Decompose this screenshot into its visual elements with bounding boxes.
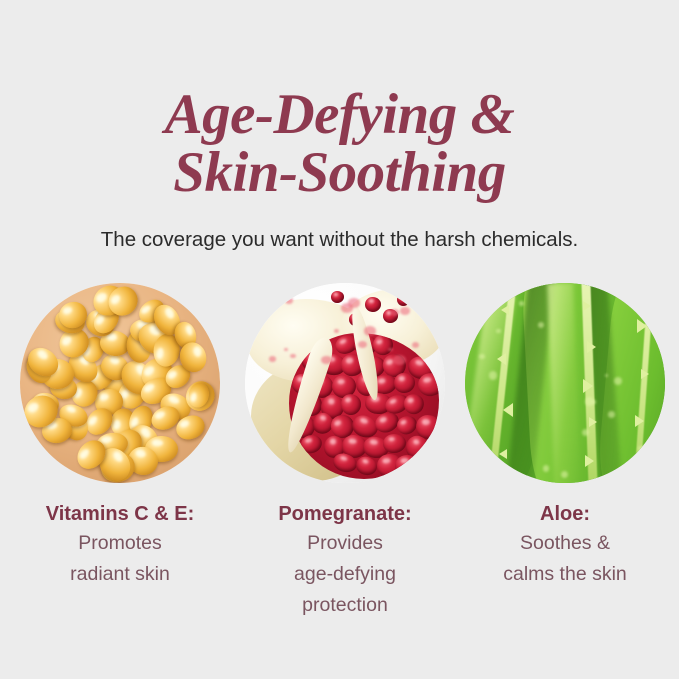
pomegranate-juice-speck bbox=[376, 336, 382, 341]
aloe-surface-dot bbox=[489, 371, 497, 379]
caption-title: Aloe: bbox=[451, 500, 679, 528]
aloe-thorns bbox=[465, 283, 665, 483]
pomegranate-juice-speck bbox=[412, 342, 420, 348]
aloe-surface-dot bbox=[496, 329, 501, 334]
caption-title: Pomegranate: bbox=[231, 500, 459, 528]
caption-body: Promotes radiant skin bbox=[6, 528, 234, 590]
aloe-surface-dot bbox=[638, 446, 643, 451]
aloe-thorn bbox=[503, 403, 513, 417]
aloe-thorn bbox=[587, 341, 596, 353]
caption-body-line: Soothes & bbox=[451, 528, 679, 559]
caption-body-line: calms the skin bbox=[451, 559, 679, 590]
pomegranate-juice-speck bbox=[334, 329, 339, 333]
caption-body-line: Promotes bbox=[6, 528, 234, 559]
pomegranate-juice-speck bbox=[400, 307, 410, 315]
aloe-thorn bbox=[635, 415, 644, 427]
aloe-thorn bbox=[585, 455, 594, 467]
aloe-surface-dot bbox=[519, 301, 523, 305]
caption-vitamins: Vitamins C & E: Promotes radiant skin bbox=[6, 500, 234, 590]
aloe-thorn bbox=[589, 417, 597, 427]
aloe-surface-dot bbox=[614, 377, 622, 385]
aloe-image bbox=[465, 283, 665, 483]
aloe-thorn bbox=[501, 305, 509, 315]
pomegranate-image bbox=[245, 283, 445, 483]
caption-body-line: Provides bbox=[231, 528, 459, 559]
capsules-cluster bbox=[20, 283, 220, 483]
pomegranate-juice-speck bbox=[364, 326, 376, 336]
caption-body: Soothes & calms the skin bbox=[451, 528, 679, 590]
aloe-surface-dot bbox=[582, 429, 589, 436]
pomegranate-juice-speck bbox=[348, 298, 360, 308]
vitamin-capsules-image bbox=[20, 283, 220, 483]
pomegranate-juice-speck bbox=[391, 309, 399, 316]
aloe-surface-dot bbox=[538, 322, 544, 328]
aloe-surface-dot bbox=[543, 465, 550, 472]
ingredient-captions-row: Vitamins C & E: Promotes radiant skin Po… bbox=[0, 500, 679, 670]
aloe-surface-dot bbox=[561, 471, 568, 478]
aloe-thorn bbox=[641, 369, 649, 379]
caption-title: Vitamins C & E: bbox=[6, 500, 234, 528]
headline-line-1: Age-Defying & bbox=[0, 86, 679, 144]
pomegranate-juice-speck bbox=[393, 355, 406, 365]
aloe-thorn bbox=[639, 461, 649, 475]
pomegranate-juice-speck bbox=[269, 356, 276, 361]
pomegranate-specks bbox=[245, 283, 445, 483]
caption-aloe: Aloe: Soothes & calms the skin bbox=[451, 500, 679, 590]
caption-body-line: radiant skin bbox=[6, 559, 234, 590]
aloe-thorn bbox=[499, 449, 507, 459]
headline-line-2: Skin-Soothing bbox=[0, 144, 679, 202]
ingredient-images-row bbox=[0, 283, 679, 483]
pomegranate-juice-speck bbox=[284, 348, 288, 351]
subtitle: The coverage you want without the harsh … bbox=[0, 227, 679, 253]
page-title: Age-Defying & Skin-Soothing bbox=[0, 86, 679, 202]
product-benefits-poster: Age-Defying & Skin-Soothing The coverage… bbox=[0, 0, 679, 679]
caption-pomegranate: Pomegranate: Provides age-defying protec… bbox=[231, 500, 459, 621]
pomegranate-juice-speck bbox=[290, 354, 295, 358]
caption-body-line: age-defying bbox=[231, 559, 459, 590]
aloe-thorn bbox=[497, 353, 506, 365]
caption-body-line: protection bbox=[231, 590, 459, 621]
pomegranate-juice-speck bbox=[358, 341, 367, 348]
aloe-thorn bbox=[637, 319, 647, 333]
caption-body: Provides age-defying protection bbox=[231, 528, 459, 621]
pomegranate-juice-speck bbox=[321, 356, 331, 364]
aloe-surface-dot bbox=[605, 374, 609, 378]
aloe-thorn bbox=[583, 379, 593, 393]
aloe-surface-dot bbox=[592, 400, 595, 403]
pomegranate-juice-speck bbox=[285, 297, 293, 303]
aloe-thorn bbox=[583, 301, 591, 311]
pomegranate-juice-speck bbox=[388, 348, 392, 352]
aloe-surface-dot bbox=[608, 411, 615, 418]
aloe-surface-dot bbox=[479, 354, 485, 360]
